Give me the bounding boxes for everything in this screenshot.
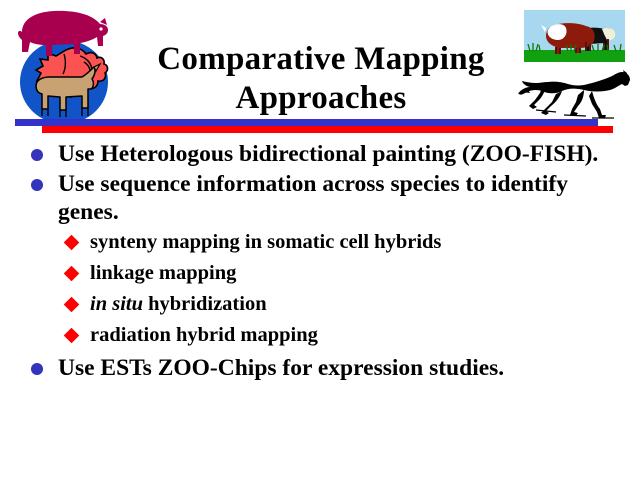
bullet-item-zoo-chips: Use ESTs ZOO-Chips for expression studie… bbox=[0, 354, 640, 382]
bullet-item-zoo-fish: Use Heterologous bidirectional painting … bbox=[0, 140, 640, 168]
subbullet-text: in situ hybridization bbox=[90, 292, 636, 317]
slide-canvas: Comparative Mapping Approaches bbox=[0, 0, 640, 480]
title-line-2: Approaches bbox=[126, 79, 516, 118]
subbullet-item-linkage-mapping: linkage mapping bbox=[0, 261, 640, 286]
subbullet-item-in-situ-hybridization: in situ hybridization bbox=[0, 292, 640, 317]
subbullet-text: radiation hybrid mapping bbox=[90, 323, 636, 348]
bullet-text: Use Heterologous bidirectional painting … bbox=[58, 140, 634, 168]
bullet-marker-diamond-icon bbox=[64, 266, 80, 282]
slide-header: Comparative Mapping Approaches bbox=[0, 0, 640, 134]
subbullet-item-radiation-hybrid-mapping: radiation hybrid mapping bbox=[0, 323, 640, 348]
subbullet-text-rest: hybridization bbox=[143, 293, 267, 315]
galloping-horse-silhouette-icon bbox=[518, 68, 632, 120]
bullet-item-sequence-information: Use sequence information across species … bbox=[0, 170, 640, 226]
bullet-marker-diamond-icon bbox=[64, 328, 80, 344]
bullet-list-level1: Use Heterologous bidirectional painting … bbox=[0, 140, 640, 382]
divider-bar-blue bbox=[15, 119, 598, 126]
bullet-marker-diamond-icon bbox=[64, 235, 80, 251]
subbullet-text: linkage mapping bbox=[90, 261, 636, 286]
page-title: Comparative Mapping Approaches bbox=[126, 40, 516, 118]
divider-bar-red bbox=[42, 126, 613, 133]
subbullet-text-italic: in situ bbox=[90, 293, 143, 315]
slide-body: Use Heterologous bidirectional painting … bbox=[0, 140, 640, 480]
bullet-marker-circle-icon bbox=[31, 149, 43, 161]
bullet-marker-circle-icon bbox=[31, 179, 43, 191]
bullet-marker-diamond-icon bbox=[64, 297, 80, 313]
bullet-text: Use ESTs ZOO-Chips for expression studie… bbox=[58, 354, 634, 382]
livestock-genome-logo-icon bbox=[8, 4, 120, 126]
bullet-list-level2: synteny mapping in somatic cell hybrids … bbox=[0, 230, 640, 348]
subbullet-item-synteny-mapping: synteny mapping in somatic cell hybrids bbox=[0, 230, 640, 255]
bullet-text: Use sequence information across species … bbox=[58, 170, 634, 226]
title-line-1: Comparative Mapping bbox=[126, 40, 516, 79]
cattle-pasture-photo bbox=[524, 10, 625, 62]
bullet-marker-circle-icon bbox=[31, 363, 43, 375]
subbullet-text: synteny mapping in somatic cell hybrids bbox=[90, 230, 636, 255]
